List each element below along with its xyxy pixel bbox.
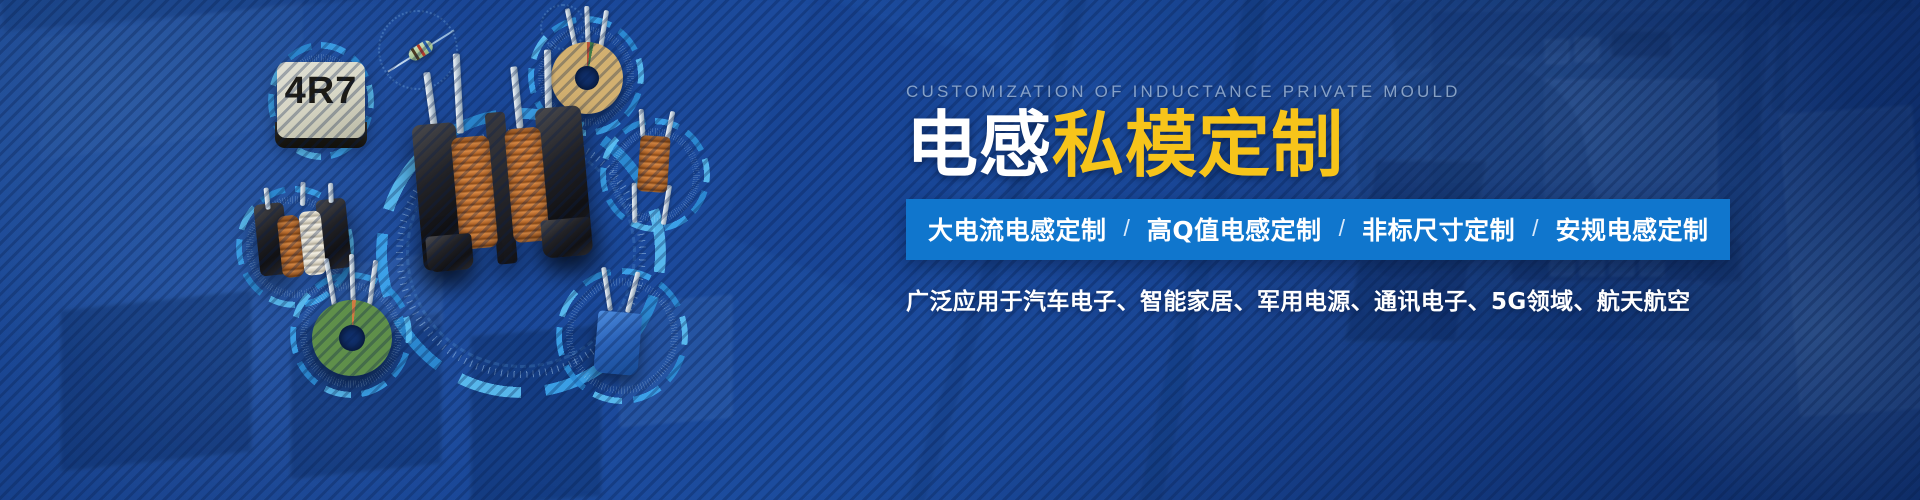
service-tag-1[interactable]: 大电流电感定制 xyxy=(928,211,1107,247)
banner-eyebrow: CUSTOMIZATION OF INDUCTANCE PRIVATE MOUL… xyxy=(906,82,1786,102)
service-tags-bar: 大电流电感定制 / 高Q值电感定制 / 非标尺寸定制 / 安规电感定制 xyxy=(906,199,1730,260)
service-tag-4[interactable]: 安规电感定制 xyxy=(1555,211,1708,247)
service-tag-separator: / xyxy=(1532,215,1538,242)
service-tag-2[interactable]: 高Q值电感定制 xyxy=(1147,211,1322,247)
banner-tagline: 广泛应用于汽车电子、智能家居、军用电源、通讯电子、5G领域、航天航空 xyxy=(906,282,1786,316)
headline-white-part: 电感 xyxy=(906,103,1052,187)
headline-gold-part: 私模定制 xyxy=(1052,103,1344,187)
promo-banner: 4R7 xyxy=(0,0,1920,500)
service-tag-3[interactable]: 非标尺寸定制 xyxy=(1362,211,1515,247)
banner-text-block: CUSTOMIZATION OF INDUCTANCE PRIVATE MOUL… xyxy=(906,82,1786,316)
banner-headline: 电感私模定制 xyxy=(906,108,1786,183)
service-tag-separator: / xyxy=(1339,215,1345,242)
service-tag-separator: / xyxy=(1124,215,1130,242)
